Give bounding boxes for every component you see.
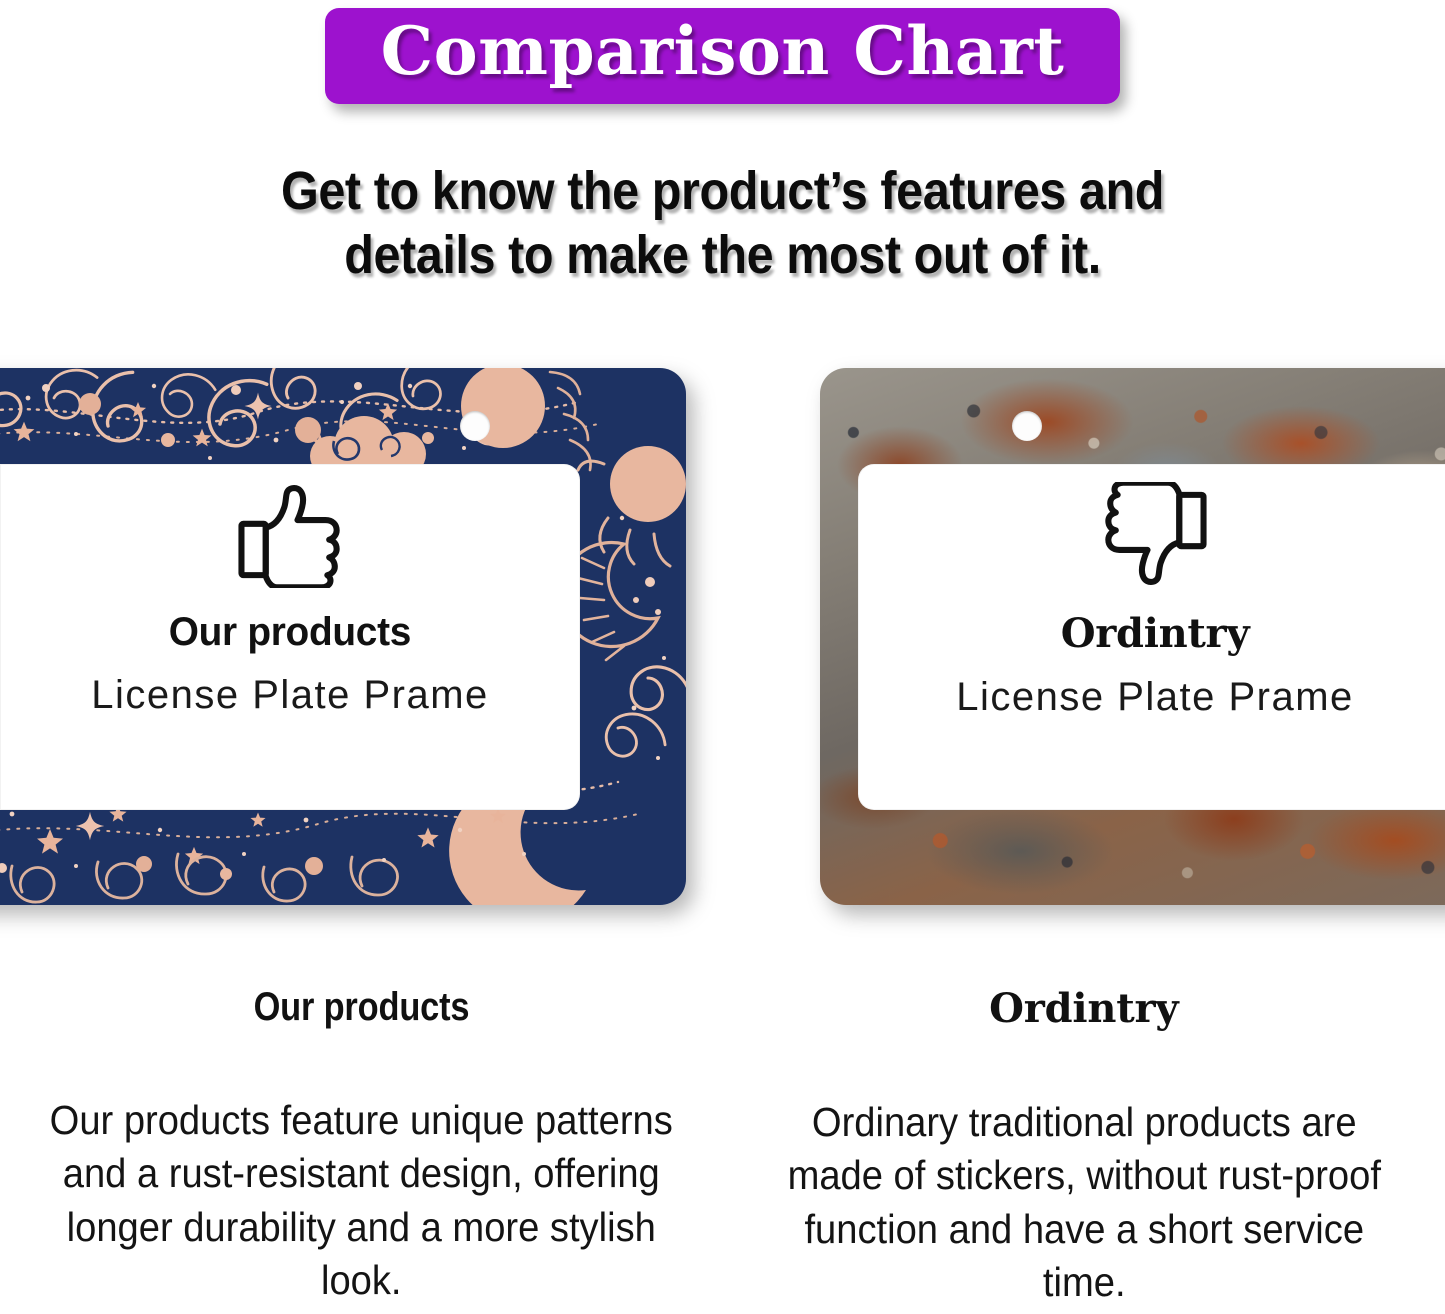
comparison-text-row: Our products Our products feature unique… <box>0 985 1445 1309</box>
column-description-ordinary: Ordinary traditional products are made o… <box>770 1096 1397 1309</box>
thumbs-down-icon <box>1099 482 1211 588</box>
mounting-hole <box>460 411 490 441</box>
comparison-column-ordinary: Ordintry Ordinary traditional products a… <box>723 985 1445 1309</box>
plate-window-ordinary: Ordintry License Plate Prame <box>858 464 1445 810</box>
thumbs-up-icon <box>234 482 346 588</box>
column-heading-wrapper: Our products <box>24 985 699 1030</box>
comparison-column-ours: Our products Our products feature unique… <box>0 985 723 1309</box>
column-description-ours: Our products feature unique patterns and… <box>48 1094 675 1307</box>
column-heading-wrapper: Ordintry <box>747 985 1422 1032</box>
column-heading-ordinary: Ordintry <box>747 985 1422 1032</box>
plate-title-ordinary: Ordintry <box>1061 610 1250 657</box>
column-heading-ours: Our products <box>253 985 469 1030</box>
plate-subtitle-ours: License Plate Prame <box>91 673 489 718</box>
plate-subtitle-ordinary: License Plate Prame <box>956 675 1354 720</box>
mounting-hole <box>1012 411 1042 441</box>
plate-title-ours: Our products <box>169 610 411 655</box>
plate-window-ours: Our products License Plate Prame <box>0 464 580 810</box>
our-product-license-plate-frame: Our products License Plate Prame <box>0 368 686 905</box>
ordinary-product-license-plate-frame: Ordintry License Plate Prame <box>820 368 1445 905</box>
